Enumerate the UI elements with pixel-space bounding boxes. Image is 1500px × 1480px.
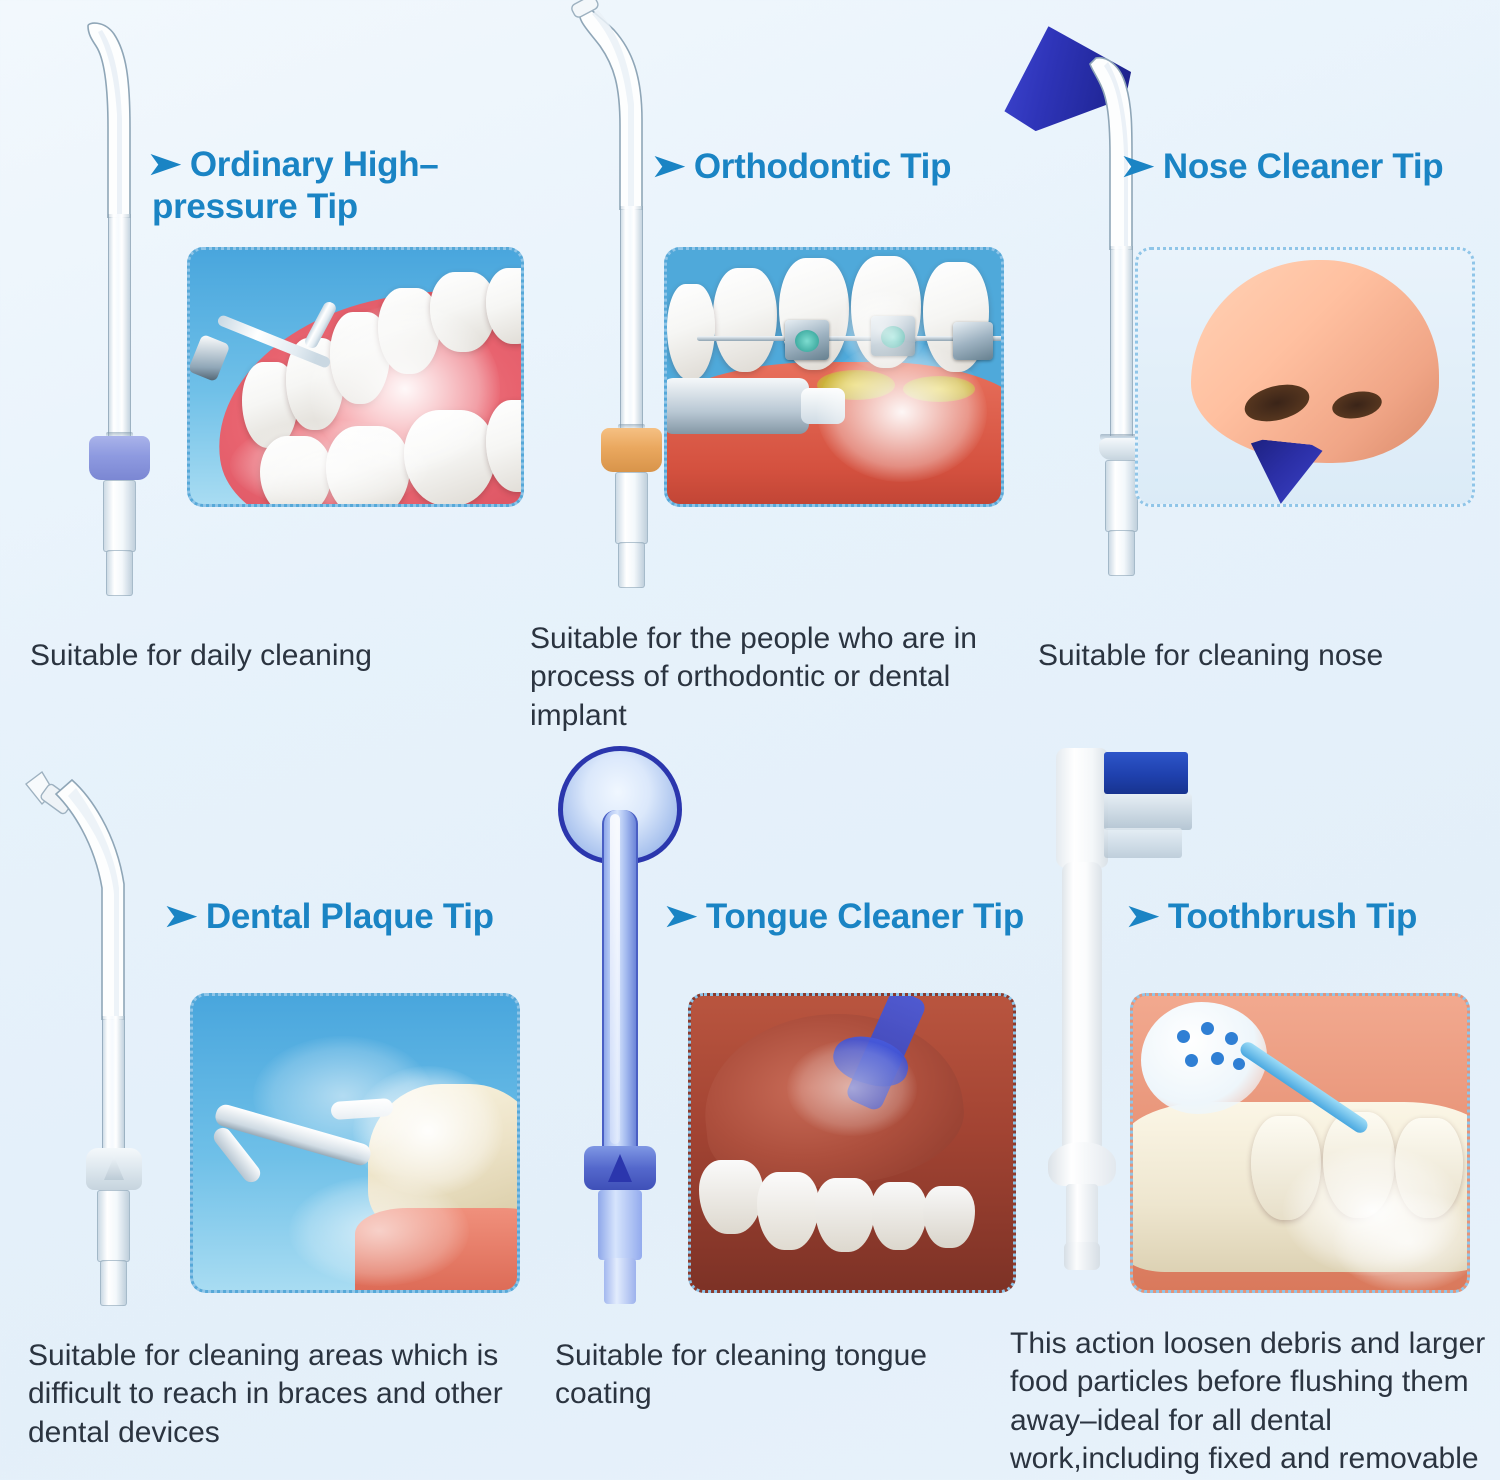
- nozzle-base-end: [106, 550, 133, 596]
- nozzle-shaft: [1110, 246, 1133, 436]
- heading-label: Nose Cleaner Tip: [1163, 147, 1443, 186]
- nozzle-base: [598, 1190, 642, 1260]
- item-tongue-cleaner-tip: ➤Tongue Cleaner Tip Suitable for cleanin…: [520, 740, 1020, 1480]
- caption-nose-cleaner-tip: Suitable for cleaning nose: [1038, 637, 1458, 675]
- item-nose-cleaner-tip: ➤Nose Cleaner Tip Suitable for cleaning …: [1020, 0, 1500, 700]
- photo-daily-cleaning: [187, 247, 524, 507]
- heading-ordinary-high-pressure-tip: ➤Ordinary High–pressure Tip: [152, 103, 512, 227]
- heading-dental-plaque-tip: ➤Dental Plaque Tip: [168, 855, 528, 938]
- heading-label: Tongue Cleaner Tip: [706, 897, 1024, 936]
- heading-label: Dental Plaque Tip: [206, 897, 494, 936]
- photo-toothbrush-cleaning: [1130, 993, 1470, 1293]
- item-toothbrush-tip: ➤Toothbrush Tip This action lo: [1020, 740, 1500, 1480]
- bristles-clear-lower: [1104, 828, 1182, 858]
- heading-label: Toothbrush Tip: [1168, 897, 1417, 936]
- brush-head: [1056, 748, 1108, 868]
- nozzle-base: [615, 472, 648, 544]
- arrow-bullet-icon: ➤: [1121, 149, 1155, 184]
- nozzle-shaft: [602, 810, 638, 1160]
- nozzle-base-end: [100, 1260, 127, 1306]
- photo-nose-cleaning: [1135, 247, 1475, 507]
- arrow-bullet-icon: ➤: [664, 899, 698, 934]
- nozzle-shaft: [108, 214, 131, 436]
- brush-collar: [1048, 1142, 1116, 1186]
- infographic-board: ➤Ordinary High–pressure Tip: [0, 0, 1500, 1480]
- caption-dental-plaque-tip: Suitable for cleaning areas which is dif…: [28, 1337, 518, 1452]
- heading-orthodontic-tip: ➤Orthodontic Tip: [656, 105, 986, 188]
- item-dental-plaque-tip: ➤Dental Plaque Tip Suitable for cleaning…: [0, 740, 520, 1480]
- nozzle-tongue-cleaner: [540, 740, 700, 1320]
- bristles-blue: [1104, 752, 1188, 794]
- photo-plaque-cleaning: [190, 993, 520, 1293]
- nozzle-collar: [89, 436, 150, 480]
- nozzle-base: [1105, 460, 1138, 532]
- heading-toothbrush-tip: ➤Toothbrush Tip: [1130, 855, 1500, 938]
- arrow-bullet-icon: ➤: [148, 147, 182, 182]
- brush-base: [1066, 1184, 1098, 1248]
- arrow-bullet-icon: ➤: [652, 149, 686, 184]
- heading-label: Ordinary High–pressure Tip: [152, 145, 438, 225]
- heading-nose-cleaner-tip: ➤Nose Cleaner Tip: [1125, 105, 1500, 188]
- caption-toothbrush-tip: This action loosen debris and larger foo…: [1010, 1325, 1500, 1480]
- shaft-highlight: [610, 814, 620, 1144]
- arrow-bullet-icon: ➤: [164, 899, 198, 934]
- photo-orthodontic-braces: [664, 247, 1004, 507]
- caption-ordinary-high-pressure-tip: Suitable for daily cleaning: [30, 637, 500, 675]
- item-orthodontic-tip: ➤Orthodontic Tip: [520, 0, 1020, 740]
- nozzle-base: [103, 480, 136, 552]
- nozzle-shaft: [620, 206, 643, 428]
- nozzle-shaft: [102, 1016, 125, 1152]
- nozzle-base-end: [1108, 530, 1135, 576]
- photo-tongue-cleaning: [688, 993, 1016, 1293]
- caption-tongue-cleaner-tip: Suitable for cleaning tongue coating: [555, 1337, 975, 1414]
- nozzle-dental-plaque: [20, 770, 180, 1330]
- nozzle-base-end: [604, 1258, 636, 1304]
- nozzle-base-end: [618, 542, 645, 588]
- nozzle-base: [97, 1190, 130, 1262]
- arrow-bullet-icon: ➤: [1126, 899, 1160, 934]
- caption-orthodontic-tip: Suitable for the people who are in proce…: [530, 620, 1000, 735]
- heading-label: Orthodontic Tip: [694, 147, 951, 186]
- brush-base-end: [1064, 1242, 1100, 1270]
- item-ordinary-high-pressure-tip: ➤Ordinary High–pressure Tip: [0, 0, 520, 700]
- bristles-clear: [1104, 794, 1192, 830]
- brush-handle: [1062, 862, 1102, 1154]
- heading-tongue-cleaner-tip: ➤Tongue Cleaner Tip: [668, 855, 1058, 938]
- nozzle-collar: [601, 428, 662, 472]
- nozzle-neck-curve-icon: [20, 770, 180, 1020]
